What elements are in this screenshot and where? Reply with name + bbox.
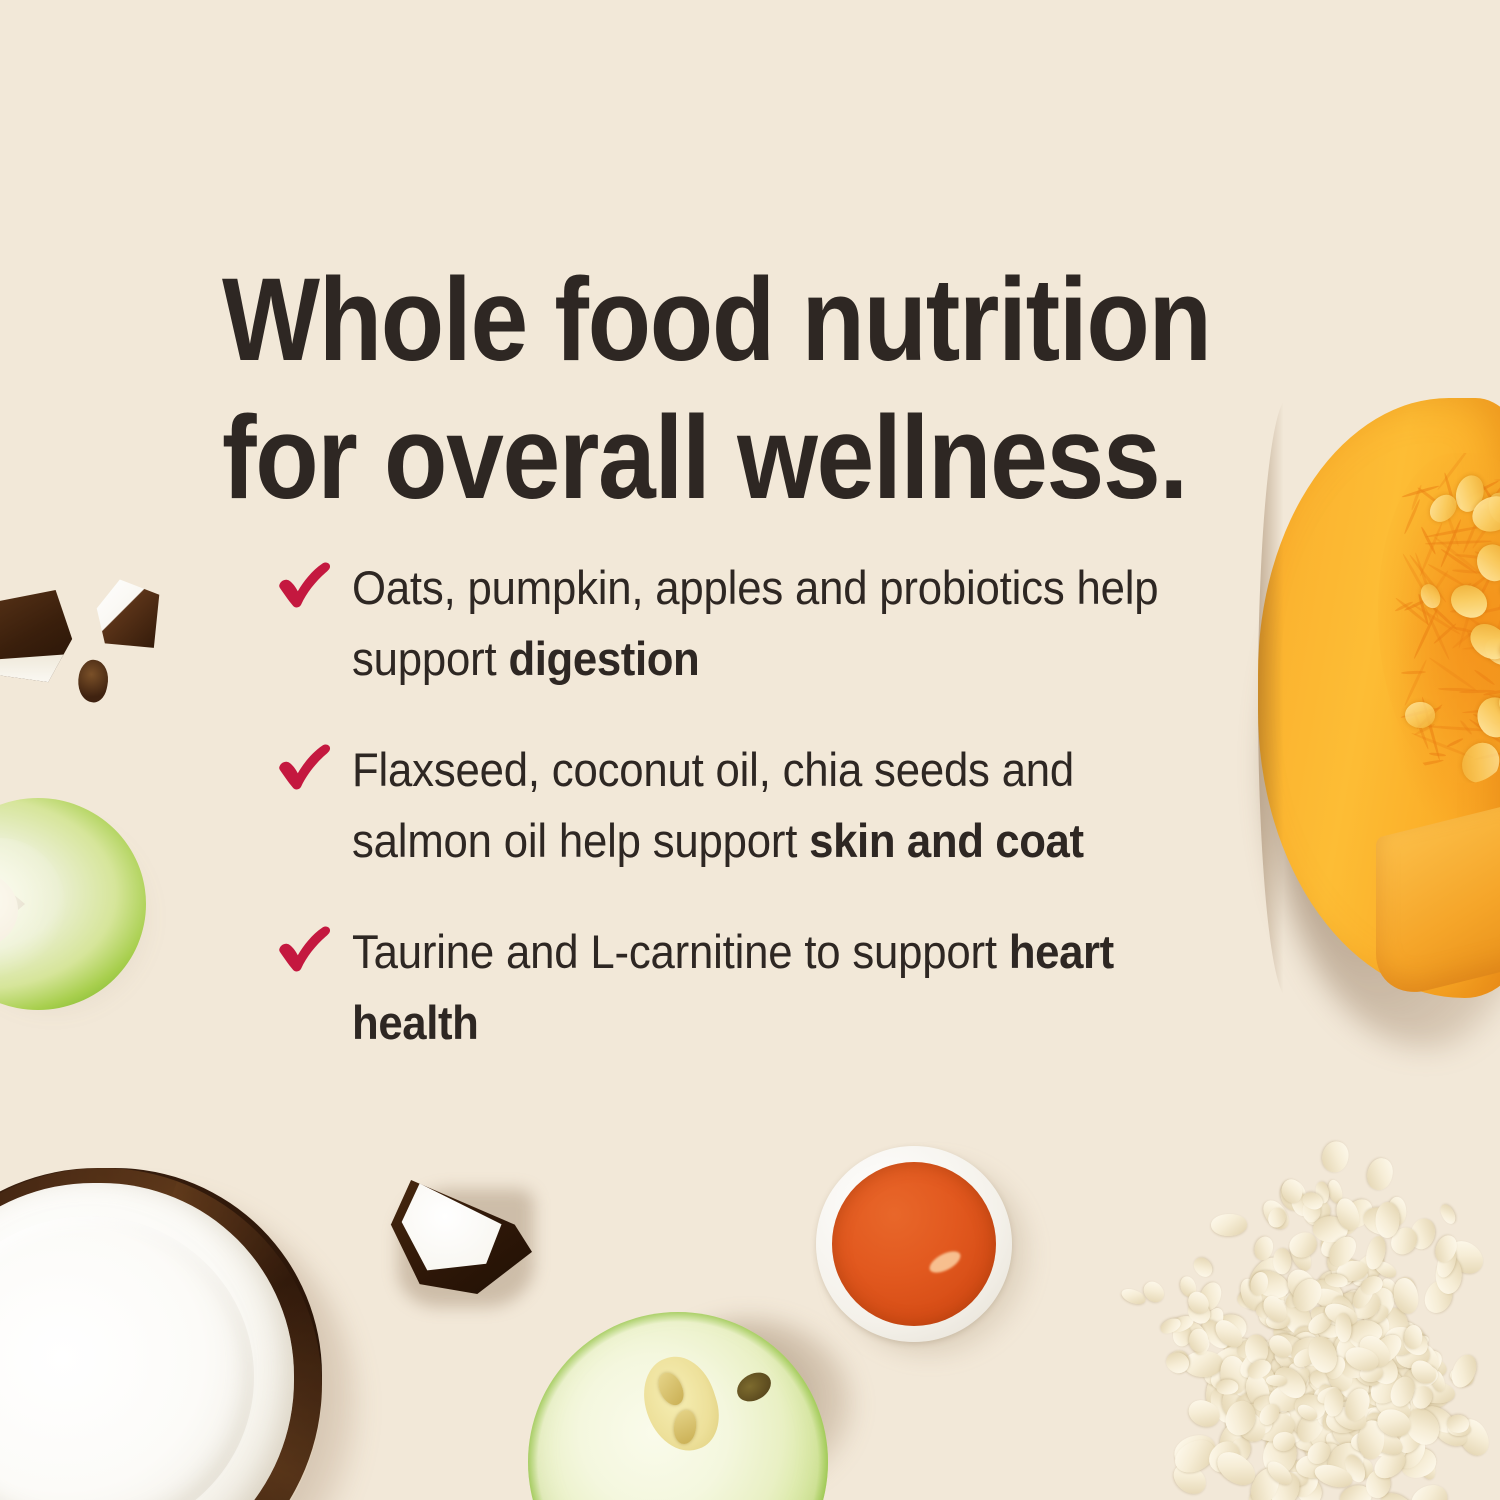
oat-flake	[1235, 1382, 1266, 1415]
oat-flake	[1296, 1455, 1331, 1479]
oat-flake	[1301, 1196, 1336, 1230]
oat-flake	[1253, 1297, 1282, 1321]
oat-flake	[1367, 1390, 1392, 1407]
oat-flake	[1412, 1378, 1456, 1406]
pumpkin-seed	[1467, 491, 1500, 539]
coconut-inner-bowl	[0, 1216, 254, 1500]
oat-flake	[1317, 1224, 1346, 1254]
oat-flake	[1327, 1359, 1354, 1392]
pumpkin-seed-cavity	[1378, 453, 1500, 783]
oat-flake	[1315, 1381, 1340, 1409]
apple-slice-body	[0, 798, 146, 1010]
oat-flake	[1311, 1395, 1347, 1438]
oat-flake	[1279, 1396, 1305, 1417]
oat-flake	[1373, 1258, 1400, 1281]
oat-flake	[1320, 1436, 1370, 1487]
oat-flake	[1399, 1328, 1432, 1361]
coconut-chunk-shadow	[398, 1189, 534, 1307]
oat-flake	[1384, 1327, 1418, 1357]
oat-flake	[1273, 1248, 1291, 1275]
pumpkin-cut-face	[1376, 801, 1500, 1003]
oat-flake	[1359, 1273, 1386, 1297]
oat-flake	[1285, 1291, 1310, 1310]
oat-flake	[1364, 1298, 1380, 1321]
oat-flake	[1191, 1334, 1213, 1358]
oat-flake	[1235, 1415, 1263, 1435]
oat-flake	[1433, 1245, 1459, 1280]
pumpkin-fiber	[1474, 550, 1500, 567]
oat-flake	[1375, 1202, 1401, 1239]
oat-flake	[1392, 1276, 1417, 1310]
oat-flake	[1268, 1330, 1309, 1363]
oat-flake	[1301, 1332, 1339, 1375]
oat-flake	[1245, 1346, 1289, 1378]
oat-flake	[1216, 1380, 1238, 1395]
oat-flake	[1356, 1345, 1397, 1381]
apple-slice-core-notch	[0, 870, 18, 950]
oat-flake	[1442, 1235, 1489, 1281]
oat-flake	[1409, 1384, 1436, 1413]
oat-flake	[1317, 1432, 1354, 1468]
oat-flake	[1267, 1409, 1292, 1427]
pumpkin-fiber	[1414, 552, 1440, 619]
oat-flake	[1286, 1365, 1313, 1393]
oat-flake	[1310, 1418, 1350, 1451]
oat-flake	[1338, 1350, 1376, 1380]
pumpkin-fiber	[1462, 642, 1500, 650]
oat-flake	[1283, 1471, 1308, 1487]
oat-flake	[1315, 1267, 1343, 1292]
oat-flake	[1317, 1323, 1341, 1338]
oat-flake	[1294, 1431, 1331, 1451]
oat-flake	[1223, 1336, 1247, 1365]
oat-flake	[1357, 1396, 1398, 1427]
oat-flake	[1362, 1348, 1404, 1390]
oat-flake	[1264, 1414, 1290, 1434]
pumpkin-fiber	[1403, 659, 1428, 707]
oat-flake	[1241, 1357, 1283, 1405]
oat-flake	[1286, 1237, 1314, 1273]
oat-flake	[1321, 1353, 1349, 1383]
oat-flake	[1406, 1355, 1440, 1388]
oat-flake	[1367, 1407, 1398, 1447]
pumpkin-shadow	[1268, 468, 1500, 1048]
pumpkin-fiber	[1436, 453, 1471, 491]
oat-flake	[1353, 1404, 1407, 1456]
oat-flake	[1407, 1480, 1452, 1500]
pumpkin-fiber	[1453, 581, 1471, 598]
pumpkin-fiber	[1412, 603, 1462, 636]
oat-flake	[1405, 1350, 1450, 1382]
oat-flake	[1394, 1341, 1431, 1371]
oat-flake	[1360, 1389, 1399, 1423]
oat-flake	[1337, 1483, 1373, 1500]
oat-flake	[1292, 1406, 1330, 1446]
oat-flake	[1120, 1286, 1148, 1307]
oat-flake	[1335, 1313, 1352, 1342]
oat-flake	[1195, 1279, 1225, 1313]
pumpkin-fiber	[1493, 638, 1500, 643]
oat-flake	[1364, 1156, 1396, 1194]
coconut-husk-highlight	[0, 1168, 322, 1500]
oat-flake	[1345, 1453, 1376, 1482]
oat-flake	[1330, 1369, 1356, 1398]
pumpkin-fiber	[1455, 554, 1486, 560]
oil-bowl-shadow	[834, 1162, 1034, 1358]
pumpkin-fiber	[1420, 526, 1437, 555]
oat-flake	[1400, 1403, 1446, 1452]
oat-flake	[1231, 1340, 1258, 1362]
oat-flake	[1326, 1326, 1353, 1356]
oat-flake	[1376, 1488, 1419, 1500]
oat-flake	[1322, 1370, 1361, 1408]
oat-flake	[1341, 1385, 1374, 1424]
oat-flake	[1363, 1235, 1389, 1272]
oat-flake	[1230, 1357, 1261, 1399]
oat-flake	[1242, 1371, 1273, 1411]
oat-flake	[1431, 1416, 1471, 1451]
oat-flake	[1328, 1259, 1360, 1287]
oat-flake	[1359, 1202, 1401, 1240]
oat-flake	[1172, 1324, 1191, 1347]
pumpkin-fiber	[1413, 607, 1439, 659]
oat-flake	[1256, 1401, 1284, 1429]
oat-flake	[1183, 1297, 1215, 1329]
oat-flake	[1404, 1345, 1447, 1385]
oat-flake	[1374, 1394, 1403, 1411]
oat-flake	[1419, 1276, 1456, 1317]
oat-flake	[1347, 1288, 1385, 1324]
oat-flake	[1332, 1316, 1355, 1346]
oat-flake	[1221, 1397, 1260, 1440]
oat-flake	[1235, 1340, 1279, 1383]
oat-flake	[1297, 1343, 1335, 1372]
oat-flake	[1281, 1402, 1319, 1441]
oat-flake	[1246, 1464, 1285, 1500]
oat-flake	[1345, 1410, 1369, 1439]
oat-flake	[1325, 1242, 1347, 1273]
oat-flake	[1278, 1407, 1308, 1438]
oat-flake	[1337, 1354, 1371, 1384]
coconut-fragment-flesh	[0, 654, 74, 684]
oat-flake	[1259, 1410, 1291, 1447]
apple-half-core	[633, 1348, 729, 1461]
oat-flake	[1140, 1278, 1168, 1306]
oat-flake	[1249, 1266, 1294, 1304]
pumpkin-fiber	[1433, 623, 1458, 645]
oat-flake	[1324, 1272, 1349, 1289]
oat-flake	[1319, 1295, 1346, 1332]
oat-flake	[1235, 1397, 1277, 1439]
oat-flake	[1448, 1365, 1476, 1387]
oat-flake	[1332, 1252, 1372, 1285]
oat-flake	[1448, 1422, 1471, 1437]
pumpkin-fiber	[1444, 473, 1457, 508]
oat-flake	[1292, 1391, 1328, 1423]
oat-flake	[1325, 1404, 1378, 1456]
oat-flake	[1304, 1333, 1341, 1377]
oat-flake	[1323, 1304, 1351, 1323]
oat-flake	[1264, 1467, 1303, 1500]
oat-flake	[1267, 1385, 1294, 1415]
oat-flake	[1283, 1360, 1311, 1393]
oat-flake	[1208, 1341, 1253, 1378]
pumpkin-fiber	[1414, 723, 1436, 736]
oat-flake	[1219, 1404, 1261, 1447]
oat-flake	[1372, 1315, 1392, 1343]
oat-flake	[1244, 1384, 1274, 1414]
oat-flake	[1264, 1331, 1295, 1362]
oat-flake	[1215, 1397, 1241, 1418]
oat-flake	[1287, 1274, 1327, 1317]
oat-flake	[1338, 1315, 1389, 1362]
oat-flake	[1404, 1366, 1429, 1383]
oat-flake	[1357, 1420, 1386, 1461]
oat-flake	[1330, 1386, 1353, 1400]
oat-flake	[1210, 1370, 1235, 1390]
oat-flake	[1305, 1345, 1332, 1368]
oat-flake	[1206, 1373, 1234, 1415]
oat-flake	[1242, 1370, 1265, 1397]
oat-flake	[1319, 1139, 1352, 1176]
pumpkin-fiber	[1417, 487, 1440, 505]
oat-flake	[1324, 1232, 1362, 1272]
oat-flake	[1218, 1354, 1250, 1396]
oat-flake	[1282, 1283, 1312, 1311]
benefit-lead-text: Taurine and L-carnitine to support	[352, 925, 1009, 978]
oat-flake	[1276, 1419, 1305, 1446]
oat-flake	[1315, 1180, 1331, 1204]
oat-flake	[1339, 1402, 1353, 1425]
oat-flake	[1391, 1361, 1420, 1397]
oat-flake	[1254, 1396, 1281, 1413]
oat-flake	[1386, 1394, 1413, 1416]
oat-flake	[1380, 1345, 1407, 1375]
oat-flake	[1360, 1282, 1399, 1323]
oat-flake	[1332, 1196, 1363, 1235]
oat-flake	[1290, 1337, 1327, 1369]
oat-flake	[1329, 1317, 1371, 1352]
oat-flake	[1366, 1419, 1398, 1453]
oat-flake	[1241, 1348, 1269, 1378]
oat-flake	[1386, 1373, 1418, 1410]
pumpkin-fiber	[1469, 718, 1500, 747]
oat-flake	[1266, 1375, 1287, 1387]
coconut-husk	[0, 1168, 322, 1500]
oat-flake	[1247, 1269, 1270, 1297]
oat-flake	[1301, 1389, 1328, 1410]
oat-flake	[1362, 1423, 1406, 1460]
oat-flake	[1246, 1352, 1275, 1386]
oat-flake	[1263, 1457, 1295, 1489]
oat-flake	[1293, 1371, 1328, 1413]
oat-flake	[1277, 1177, 1309, 1214]
oat-flake	[1305, 1386, 1348, 1428]
apple-seed	[672, 1409, 699, 1446]
oat-flake	[1392, 1419, 1421, 1458]
apple-slice-photo	[0, 798, 160, 1020]
oat-flake	[1260, 1294, 1309, 1338]
oat-flake	[1385, 1343, 1414, 1373]
oat-flake	[1350, 1430, 1384, 1454]
headline-line-1: Whole food nutrition	[222, 251, 1208, 389]
pumpkin-seed	[1404, 701, 1435, 728]
oat-flake	[1287, 1467, 1322, 1500]
pumpkin-fiber	[1465, 630, 1485, 657]
coconut-half-photo	[0, 1168, 352, 1500]
oat-flake	[1238, 1366, 1270, 1408]
benefit-item-digestion: Oats, pumpkin, apples and probiotics hel…	[272, 552, 1252, 694]
pumpkin-fiber	[1484, 749, 1500, 783]
oat-flake	[1184, 1395, 1224, 1432]
oat-flake	[1335, 1258, 1355, 1285]
oat-flake	[1287, 1333, 1327, 1369]
coconut-chunk-photo	[388, 1175, 538, 1310]
oat-flake	[1211, 1445, 1261, 1492]
oat-flake	[1359, 1357, 1385, 1399]
oat-flake	[1292, 1342, 1330, 1388]
pumpkin-fiber	[1493, 462, 1500, 496]
oat-flake	[1274, 1364, 1293, 1392]
pumpkin-fiber	[1425, 540, 1492, 546]
pumpkin-fiber	[1411, 484, 1423, 510]
pumpkin-fiber	[1429, 752, 1446, 757]
oat-flake	[1254, 1388, 1283, 1421]
oat-flake	[1298, 1424, 1322, 1453]
oat-flake	[1307, 1302, 1346, 1335]
pumpkin-seed	[1494, 689, 1500, 724]
oat-flake	[1355, 1316, 1386, 1348]
benefit-text: Taurine and L-carnitine to support heart…	[352, 916, 1189, 1058]
oat-flake	[1379, 1338, 1425, 1377]
oat-flake	[1291, 1363, 1313, 1392]
pumpkin-fiber	[1425, 601, 1458, 632]
oat-flake	[1184, 1288, 1212, 1317]
pumpkin-seed	[1485, 490, 1500, 526]
oat-flake	[1332, 1380, 1377, 1429]
oat-flake	[1333, 1375, 1370, 1417]
oat-flake	[1330, 1324, 1375, 1370]
oat-flake	[1355, 1413, 1406, 1464]
oat-flake	[1298, 1386, 1335, 1424]
pumpkin-fiber	[1465, 479, 1500, 499]
oat-flake	[1372, 1391, 1413, 1424]
oat-flake	[1339, 1193, 1378, 1232]
pumpkin-fiber	[1452, 626, 1473, 633]
oat-flake	[1266, 1313, 1290, 1329]
oat-flake	[1292, 1397, 1331, 1430]
oat-flake	[1369, 1445, 1410, 1484]
oat-flake	[1313, 1276, 1338, 1296]
oat-flake	[1361, 1329, 1385, 1362]
oat-flake	[1211, 1315, 1248, 1352]
oat-flake	[1348, 1319, 1383, 1344]
pumpkin-fiber	[1446, 738, 1464, 749]
oat-flake	[1272, 1320, 1313, 1343]
oat-flake	[1303, 1353, 1340, 1399]
oat-flake	[1283, 1327, 1324, 1371]
oat-flake	[1334, 1367, 1359, 1397]
oat-flake	[1265, 1204, 1289, 1230]
oat-flake	[1166, 1313, 1195, 1336]
oat-flake	[1274, 1330, 1298, 1360]
pumpkin-fiber	[1457, 586, 1478, 648]
benefit-item-heart-health: Taurine and L-carnitine to support heart…	[272, 916, 1252, 1058]
oat-flake	[1268, 1340, 1299, 1371]
oat-flake	[1226, 1435, 1253, 1465]
pumpkin-fiber	[1483, 688, 1500, 696]
pumpkin-fiber	[1457, 572, 1491, 599]
oat-flake	[1228, 1391, 1260, 1435]
pumpkin-fiber	[1487, 719, 1500, 747]
pumpkin-fiber	[1487, 610, 1500, 661]
oat-flake	[1297, 1331, 1323, 1349]
pumpkin-fiber	[1445, 510, 1460, 546]
oil-bowl-photo	[816, 1146, 1028, 1356]
oat-flake	[1269, 1362, 1311, 1404]
pumpkin-fiber	[1473, 712, 1499, 725]
coconut-chunk-flesh	[394, 1178, 522, 1288]
oat-flake	[1206, 1385, 1240, 1427]
oats-photo	[1120, 1140, 1500, 1500]
pumpkin-fiber	[1395, 597, 1430, 626]
oat-flake	[1318, 1387, 1362, 1428]
oat-flake	[1313, 1215, 1350, 1244]
oil-bowl-rim	[816, 1146, 1012, 1342]
oat-flake	[1343, 1393, 1379, 1436]
oat-flake	[1309, 1320, 1354, 1370]
benefit-list: Oats, pumpkin, apples and probiotics hel…	[272, 552, 1252, 1058]
pumpkin-fiber	[1429, 656, 1479, 692]
oat-flake	[1315, 1384, 1343, 1407]
oat-flake	[1454, 1415, 1494, 1461]
oat-flake	[1353, 1364, 1384, 1390]
pumpkin-fiber	[1493, 478, 1500, 482]
oat-flake	[1344, 1420, 1374, 1457]
oat-flake	[1316, 1394, 1334, 1426]
oat-flake	[1317, 1227, 1351, 1261]
oat-flake	[1272, 1407, 1315, 1451]
oat-flake	[1307, 1367, 1336, 1394]
oat-flake	[1171, 1320, 1205, 1346]
oat-flake	[1310, 1383, 1345, 1415]
oat-flake	[1256, 1335, 1287, 1363]
oat-flake	[1250, 1406, 1275, 1434]
oat-flake	[1285, 1228, 1321, 1262]
oat-flake	[1244, 1334, 1269, 1365]
oat-flake	[1215, 1418, 1250, 1459]
coconut-fragment-large	[0, 588, 74, 686]
oat-flake	[1362, 1377, 1398, 1420]
coconut-shadow	[0, 1192, 360, 1500]
pumpkin-fiber	[1440, 548, 1478, 575]
oat-flake	[1317, 1396, 1360, 1437]
apple-slice-highlight	[0, 838, 66, 978]
pumpkin-fiber	[1452, 628, 1478, 650]
oat-flake	[1339, 1204, 1360, 1235]
pumpkin-fiber	[1427, 563, 1467, 588]
oat-flake	[1329, 1357, 1376, 1407]
apple-half-photo	[528, 1312, 848, 1500]
pumpkin-fiber	[1417, 593, 1429, 625]
oat-flake	[1338, 1350, 1376, 1392]
oat-flake	[1288, 1459, 1316, 1478]
oat-flake	[1378, 1276, 1400, 1302]
oat-flake	[1345, 1353, 1368, 1387]
apple-slice-shadow	[0, 812, 160, 1022]
oat-flake	[1288, 1190, 1313, 1219]
pumpkin-fiber	[1475, 601, 1500, 615]
